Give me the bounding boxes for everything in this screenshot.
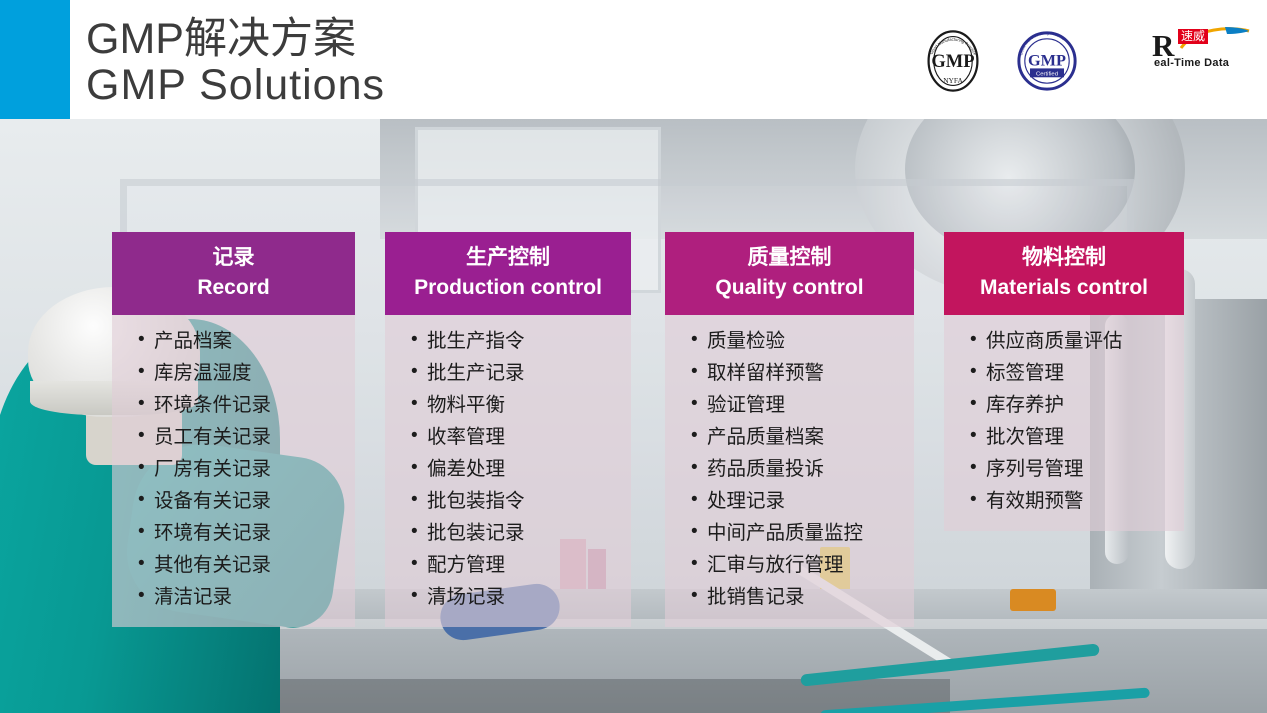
list-item: 库房温湿度 [138, 357, 355, 389]
list-item: 清场记录 [411, 581, 631, 613]
card-grid: 记录 Record 产品档案 库房温湿度 环境条件记录 员工有关记录 厂房有关记… [0, 119, 1267, 713]
list-item: 批生产记录 [411, 357, 631, 389]
card-quality-control-header: 质量控制 Quality control [665, 232, 914, 315]
card-quality-control: 质量控制 Quality control 质量检验 取样留样预警 验证管理 产品… [665, 232, 914, 627]
svg-text:GMP: GMP [1028, 50, 1066, 69]
list-item: 环境条件记录 [138, 389, 355, 421]
card-materials-control: 物料控制 Materials control 供应商质量评估 标签管理 库存养护… [944, 232, 1184, 531]
list-item: 产品档案 [138, 325, 355, 357]
card-quality-control-title-cn: 质量控制 [665, 243, 914, 273]
list-item: 批销售记录 [691, 581, 914, 613]
card-record: 记录 Record 产品档案 库房温湿度 环境条件记录 员工有关记录 厂房有关记… [112, 232, 355, 627]
card-materials-control-header: 物料控制 Materials control [944, 232, 1184, 315]
list-item: 员工有关记录 [138, 421, 355, 453]
list-item: 配方管理 [411, 549, 631, 581]
card-record-title-cn: 记录 [112, 243, 355, 273]
slide: GMP解决方案 GMP Solutions GMP NYFA Good Manu… [0, 0, 1267, 713]
list-item: 偏差处理 [411, 453, 631, 485]
list-item: 取样留样预警 [691, 357, 914, 389]
list-item: 清洁记录 [138, 581, 355, 613]
list-item: 环境有关记录 [138, 517, 355, 549]
page-title-cn: GMP解决方案 [86, 16, 385, 62]
card-materials-control-body: 供应商质量评估 标签管理 库存养护 批次管理 序列号管理 有效期预警 [944, 315, 1184, 531]
card-record-body: 产品档案 库房温湿度 环境条件记录 员工有关记录 厂房有关记录 设备有关记录 环… [112, 315, 355, 627]
card-production-control-body: 批生产指令 批生产记录 物料平衡 收率管理 偏差处理 批包装指令 批包装记录 配… [385, 315, 631, 627]
list-item: 供应商质量评估 [970, 325, 1184, 357]
list-item: 设备有关记录 [138, 485, 355, 517]
list-item: 中间产品质量监控 [691, 517, 914, 549]
card-production-control: 生产控制 Production control 批生产指令 批生产记录 物料平衡… [385, 232, 631, 627]
brand-logo: R 速威 eal-Time Data [1152, 26, 1252, 78]
list-item: 有效期预警 [970, 485, 1184, 517]
page-title: GMP解决方案 GMP Solutions [86, 16, 385, 108]
card-quality-control-list: 质量检验 取样留样预警 验证管理 产品质量档案 药品质量投诉 处理记录 中间产品… [665, 325, 914, 613]
list-item: 汇审与放行管理 [691, 549, 914, 581]
header-accent-bar [0, 0, 70, 119]
card-production-control-list: 批生产指令 批生产记录 物料平衡 收率管理 偏差处理 批包装指令 批包装记录 配… [385, 325, 631, 613]
card-quality-control-title-en: Quality control [665, 273, 914, 303]
list-item: 批次管理 [970, 421, 1184, 453]
list-item: 序列号管理 [970, 453, 1184, 485]
page-title-en: GMP Solutions [86, 62, 385, 108]
list-item: 物料平衡 [411, 389, 631, 421]
list-item: 收率管理 [411, 421, 631, 453]
list-item: 其他有关记录 [138, 549, 355, 581]
card-record-title-en: Record [112, 273, 355, 303]
card-materials-control-list: 供应商质量评估 标签管理 库存养护 批次管理 序列号管理 有效期预警 [944, 325, 1184, 517]
list-item: 验证管理 [691, 389, 914, 421]
list-item: 批包装指令 [411, 485, 631, 517]
card-materials-control-title-cn: 物料控制 [944, 243, 1184, 273]
card-materials-control-title-en: Materials control [944, 273, 1184, 303]
list-item: 处理记录 [691, 485, 914, 517]
svg-text:GMP: GMP [931, 52, 974, 72]
brand-subtitle: eal-Time Data [1154, 57, 1229, 69]
list-item: 标签管理 [970, 357, 1184, 389]
svg-text:Certified: Certified [1036, 71, 1058, 77]
svg-text:NYFA: NYFA [943, 76, 963, 85]
card-production-control-header: 生产控制 Production control [385, 232, 631, 315]
list-item: 批包装记录 [411, 517, 631, 549]
list-item: 药品质量投诉 [691, 453, 914, 485]
list-item: 质量检验 [691, 325, 914, 357]
card-record-list: 产品档案 库房温湿度 环境条件记录 员工有关记录 厂房有关记录 设备有关记录 环… [112, 325, 355, 613]
gmp-seal-certified-icon: GMP Certified Good Manufacturing Practic… [1010, 24, 1084, 98]
card-record-header: 记录 Record [112, 232, 355, 315]
list-item: 产品质量档案 [691, 421, 914, 453]
card-quality-control-body: 质量检验 取样留样预警 验证管理 产品质量档案 药品质量投诉 处理记录 中间产品… [665, 315, 914, 627]
list-item: 批生产指令 [411, 325, 631, 357]
list-item: 库存养护 [970, 389, 1184, 421]
card-production-control-title-cn: 生产控制 [385, 243, 631, 273]
gmp-seal-nyfa-icon: GMP NYFA Good Manufacturing Practice [916, 24, 990, 98]
list-item: 厂房有关记录 [138, 453, 355, 485]
slide-header: GMP解决方案 GMP Solutions GMP NYFA Good Manu… [0, 0, 1267, 119]
brand-badge: 速威 [1178, 29, 1208, 44]
card-production-control-title-en: Production control [385, 273, 631, 303]
